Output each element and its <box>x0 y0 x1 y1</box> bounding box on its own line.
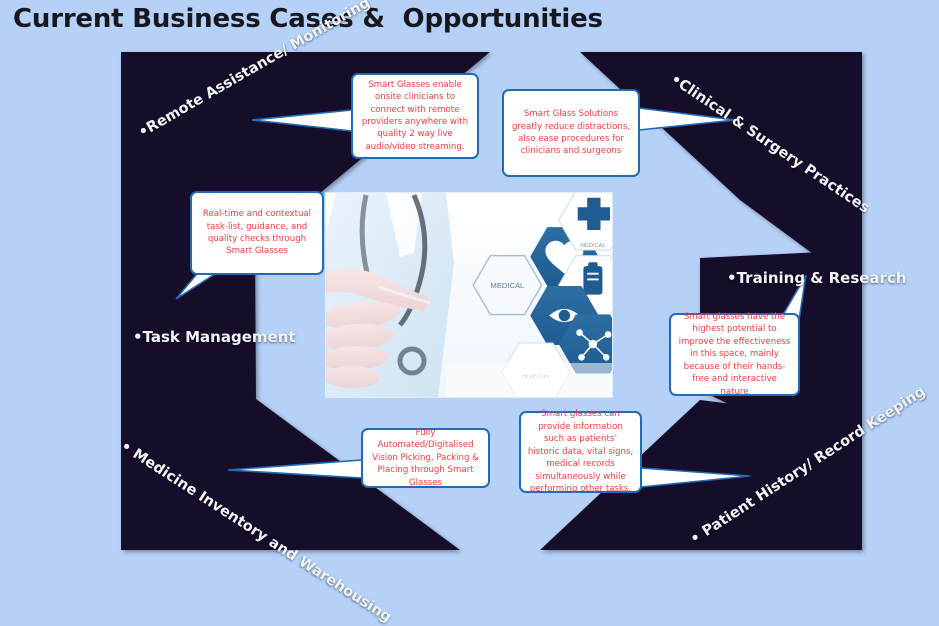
callout-medicine-inventory[interactable]: Fully Automated/Digitalised Vision Picki… <box>361 428 490 488</box>
svg-text:MEDICAL: MEDICAL <box>580 243 605 249</box>
segment-label-task-management[interactable]: •Task Management <box>133 328 296 346</box>
callout-text: Real-time and contextual task-list, guid… <box>198 208 316 258</box>
callout-text: Smart glasses have the highest potential… <box>677 311 792 398</box>
callout-text: Fully Automated/Digitalised Vision Picki… <box>369 427 482 489</box>
segment-label-training-research[interactable]: •Training & Research <box>727 269 907 287</box>
callout-remote-assistance[interactable]: Smart Glasses enable onsite clinicians t… <box>351 73 479 159</box>
doctor-figure <box>326 193 454 397</box>
callout-training-research[interactable]: Smart glasses have the highest potential… <box>669 313 800 396</box>
callout-clinical-surgery[interactable]: Smart Glass Solutions greatly reduce dis… <box>502 89 640 177</box>
slide-canvas: Current Business Cases & Opportunities <box>0 0 939 566</box>
hex-medical-caption: MEDICAL <box>491 281 525 290</box>
center-image: MEDICAL MEDICAL <box>326 193 612 397</box>
callout-text: Smart glasses can provide information su… <box>527 408 634 495</box>
callout-patient-history[interactable]: Smart glasses can provide information su… <box>519 411 642 493</box>
callout-task-management[interactable]: Real-time and contextual task-list, guid… <box>190 191 324 275</box>
callout-text: Smart Glasses enable onsite clinicians t… <box>359 79 471 154</box>
callout-text: Smart Glass Solutions greatly reduce dis… <box>510 108 632 158</box>
